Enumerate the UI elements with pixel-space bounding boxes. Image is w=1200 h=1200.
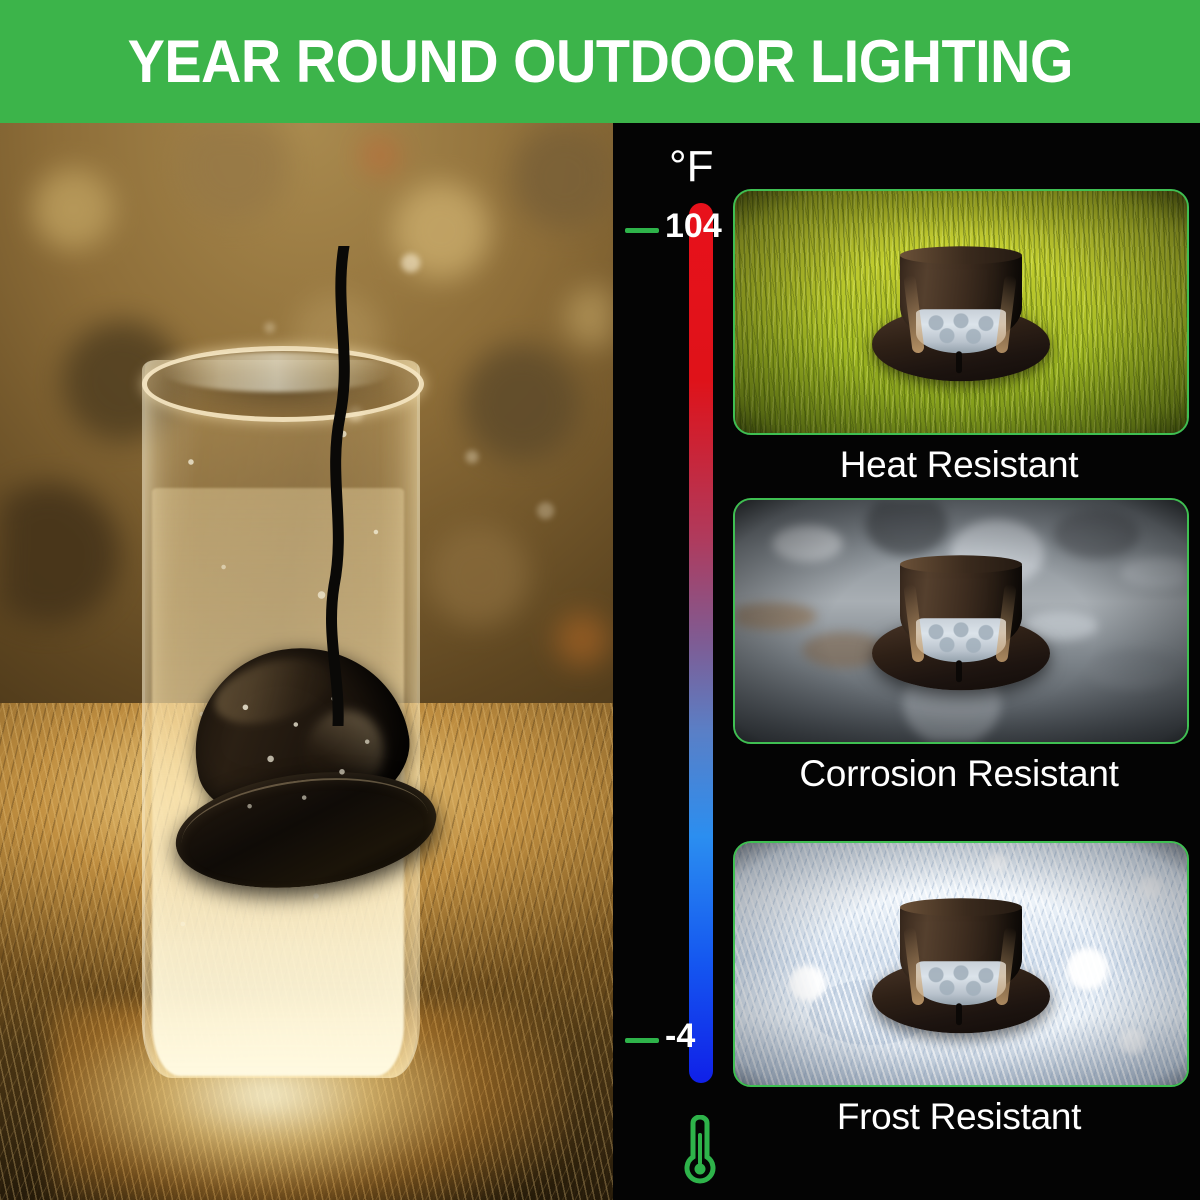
temperature-max-value: 104 bbox=[665, 207, 722, 246]
temperature-gradient-bar bbox=[689, 203, 713, 1083]
feature-card-heat-resistant: Heat Resistant bbox=[733, 189, 1185, 486]
product-feature-graphic: YEAR ROUND OUTDOOR LIGHTING bbox=[0, 0, 1200, 1200]
feature-image-grass bbox=[733, 189, 1189, 435]
thermometer-icon bbox=[677, 1115, 723, 1187]
power-cable bbox=[300, 246, 380, 726]
feature-image-rock bbox=[733, 498, 1189, 744]
feature-label-frost-resistant: Frost Resistant bbox=[733, 1096, 1185, 1138]
tick-mark-max bbox=[625, 228, 659, 233]
banner-title: YEAR ROUND OUTDOOR LIGHTING bbox=[127, 27, 1072, 96]
header-banner: YEAR ROUND OUTDOOR LIGHTING bbox=[0, 0, 1200, 123]
feature-image-snow bbox=[733, 841, 1189, 1087]
image-vignette bbox=[735, 500, 1187, 742]
temperature-unit-label: °F bbox=[669, 142, 713, 192]
image-vignette bbox=[735, 843, 1187, 1085]
tick-mark-min bbox=[625, 1038, 659, 1043]
feature-card-corrosion-resistant: Corrosion Resistant bbox=[733, 498, 1185, 795]
image-vignette bbox=[735, 191, 1187, 433]
feature-card-frost-resistant: Frost Resistant bbox=[733, 841, 1185, 1138]
hero-photo-waterproof-test: IP67 Waterproof bbox=[0, 123, 613, 1200]
feature-label-heat-resistant: Heat Resistant bbox=[733, 444, 1185, 486]
temperature-min-value: -4 bbox=[665, 1017, 695, 1056]
features-panel: °F 104 -4 bbox=[613, 123, 1200, 1200]
feature-label-corrosion-resistant: Corrosion Resistant bbox=[733, 753, 1185, 795]
